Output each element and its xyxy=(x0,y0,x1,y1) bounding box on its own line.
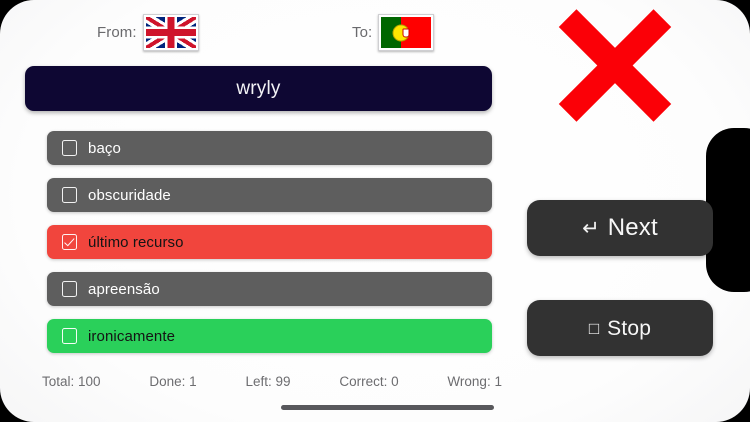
portugal-flag-graphic xyxy=(381,17,431,48)
from-label: From: xyxy=(97,24,137,41)
answer-option-label: ironicamente xyxy=(88,328,175,345)
next-button-label: Next xyxy=(608,216,658,240)
x-stroke-2 xyxy=(559,9,671,121)
answer-option-5-correct[interactable]: ironicamente xyxy=(47,319,492,353)
to-label: To: xyxy=(352,24,372,41)
answer-option-3-selected-wrong[interactable]: último recurso xyxy=(47,225,492,259)
home-indicator[interactable] xyxy=(281,405,494,410)
answer-option-label: apreensão xyxy=(88,281,160,298)
answer-options-list: baço obscuridade último recurso apreensã… xyxy=(47,131,492,353)
checkbox-icon[interactable] xyxy=(62,140,77,156)
stat-total: Total: 100 xyxy=(42,374,101,389)
source-language-selector[interactable]: From: xyxy=(97,14,199,51)
device-frame: From: To: xyxy=(0,0,750,422)
checkbox-icon[interactable] xyxy=(62,328,77,344)
target-language-selector[interactable]: To: xyxy=(352,14,434,51)
answer-option-4[interactable]: apreensão xyxy=(47,272,492,306)
x-stroke-1 xyxy=(559,9,671,121)
prompt-word: wryly xyxy=(236,78,280,100)
stat-correct: Correct: 0 xyxy=(339,374,398,389)
answer-option-label: obscuridade xyxy=(88,187,171,204)
stop-button-label: Stop xyxy=(607,318,651,339)
app-screen: From: To: xyxy=(0,0,750,422)
uk-flag-graphic xyxy=(146,17,196,48)
checkbox-checked-icon[interactable] xyxy=(62,234,77,250)
portugal-flag-icon[interactable] xyxy=(378,14,434,51)
square-icon: □ xyxy=(589,320,599,337)
language-header: From: To: xyxy=(0,10,510,52)
uk-cross-red xyxy=(146,17,196,48)
united-kingdom-flag-icon[interactable] xyxy=(143,14,199,51)
next-button[interactable]: ↵ Next xyxy=(527,200,713,256)
checkbox-icon[interactable] xyxy=(62,281,77,297)
checkbox-icon[interactable] xyxy=(62,187,77,203)
portugal-shield xyxy=(403,28,410,37)
stop-button[interactable]: □ Stop xyxy=(527,300,713,356)
return-arrow-icon: ↵ xyxy=(582,218,600,239)
stat-left: Left: 99 xyxy=(245,374,290,389)
session-stats-bar: Total: 100 Done: 1 Left: 99 Correct: 0 W… xyxy=(42,374,502,389)
incorrect-x-mark-icon xyxy=(558,8,672,122)
prompt-word-box: wryly xyxy=(25,66,492,111)
answer-option-label: baço xyxy=(88,140,121,157)
answer-option-2[interactable]: obscuridade xyxy=(47,178,492,212)
answer-option-1[interactable]: baço xyxy=(47,131,492,165)
stat-wrong: Wrong: 1 xyxy=(447,374,502,389)
stat-done: Done: 1 xyxy=(149,374,196,389)
answer-option-label: último recurso xyxy=(88,234,184,251)
